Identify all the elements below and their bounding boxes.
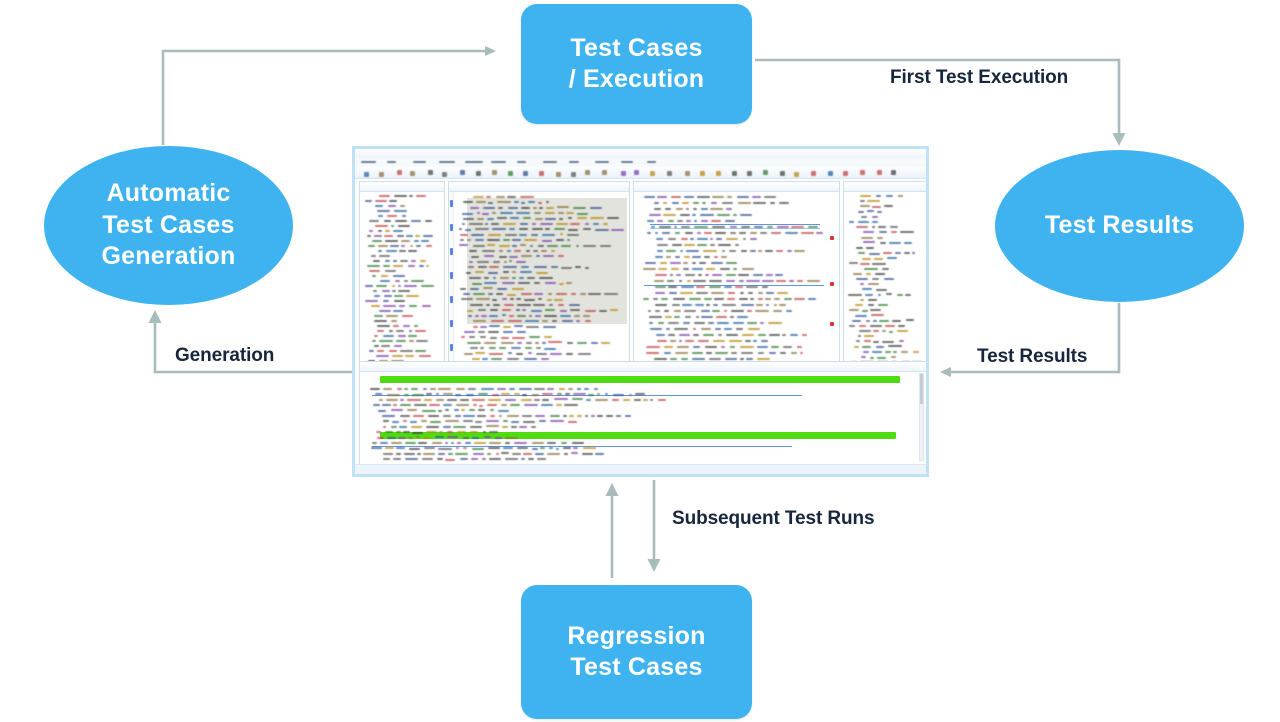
ide-text-run [648, 310, 651, 312]
ide-text-run [681, 358, 687, 360]
ide-text-run [670, 358, 677, 360]
ide-text-run [472, 399, 485, 401]
ide-text-run [684, 196, 694, 198]
ide-text-run [379, 340, 393, 342]
ide-toolbar-icon[interactable] [476, 171, 481, 176]
ide-text-run [490, 309, 499, 311]
ide-text-run [629, 394, 633, 396]
ide-toolbar-icon[interactable] [860, 170, 865, 175]
ide-text-run [422, 305, 431, 307]
ide-toolbar-icon[interactable] [410, 171, 415, 176]
ide-toolbar-icon[interactable] [556, 172, 561, 177]
ide-text-run [470, 426, 483, 428]
ide-text-run [378, 230, 382, 232]
ide-text-run [583, 315, 590, 317]
ide-text-run [782, 334, 786, 336]
ide-text-run [683, 262, 687, 264]
ide-text-run [383, 300, 389, 302]
ide-text-run [559, 218, 564, 220]
ide-text-run [773, 310, 782, 312]
ide-text-run [545, 218, 556, 220]
ide-text-run [664, 346, 673, 348]
ide-text-run [696, 292, 708, 294]
ide-toolbar-icon[interactable] [891, 170, 896, 175]
ide-toolbar-icon[interactable] [379, 172, 384, 177]
ide-text-run [391, 320, 396, 322]
ide-toolbar-icon[interactable] [811, 171, 816, 176]
ide-text-run [697, 238, 708, 240]
ide-text-run [378, 245, 388, 247]
ide-text-run [714, 256, 718, 258]
ide-text-run [554, 398, 567, 400]
ide-text-run [509, 388, 515, 390]
ide-text-run [694, 226, 708, 228]
ide-text-run [550, 353, 563, 355]
ide-text-run [668, 238, 677, 240]
ide-text-run [396, 431, 401, 433]
ide-text-run [365, 300, 378, 302]
ide-text-run [499, 245, 510, 247]
ide-text-run [876, 195, 881, 197]
ide-menu-item[interactable] [569, 161, 579, 163]
ide-toolbar-icon[interactable] [492, 170, 497, 175]
ide-toolbar-icon[interactable] [700, 171, 705, 176]
ide-text-run [577, 342, 587, 344]
ide-text-run [643, 268, 656, 270]
label-test-results: Test Results [977, 346, 1087, 368]
ide-text-run [668, 322, 679, 324]
ide-text-run [383, 388, 392, 390]
ide-text-run [849, 221, 854, 223]
ide-menu-item[interactable] [621, 161, 633, 163]
ide-text-run [496, 196, 505, 198]
ide-toolbar-icon[interactable] [523, 171, 528, 176]
ide-text-run [739, 298, 748, 300]
ide-toolbar-icon[interactable] [508, 171, 513, 176]
ide-toolbar-icon[interactable] [621, 171, 626, 176]
ide-text-run [777, 292, 788, 294]
ide-toolbar-icon[interactable] [364, 172, 369, 177]
ide-text-run [681, 286, 694, 288]
node-regression-test-cases[interactable]: Regression Test Cases [521, 585, 752, 719]
ide-text-run [457, 442, 462, 444]
ide-text-run [583, 245, 596, 247]
ide-text-run [394, 195, 407, 197]
ide-toolbar-icon[interactable] [602, 170, 607, 175]
ide-text-run [502, 426, 508, 428]
ide-text-run [736, 328, 742, 330]
ide-text-run [375, 393, 382, 395]
ide-text-run [693, 328, 696, 330]
ide-toolbar-icon[interactable] [539, 171, 544, 176]
ide-text-run [406, 235, 412, 237]
node-automatic-test-cases-generation[interactable]: Automatic Test Cases Generation [44, 146, 293, 305]
ide-menu-item[interactable] [439, 161, 455, 163]
ide-menu-item[interactable] [543, 161, 557, 163]
node-test-results[interactable]: Test Results [995, 150, 1244, 302]
ide-text-run [739, 232, 747, 234]
ide-text-run [655, 304, 667, 306]
ide-text-run [411, 280, 424, 282]
ide-text-run [514, 442, 528, 444]
ide-text-run [436, 399, 444, 401]
ide-text-run [379, 310, 391, 312]
ide-text-run [391, 442, 401, 444]
ide-toolbar-icon[interactable] [442, 172, 447, 177]
ide-text-run [715, 232, 726, 234]
ide-text-run [654, 208, 661, 210]
ide-menu-item[interactable] [387, 161, 396, 163]
ide-text-run [692, 262, 696, 264]
ide-text-run [866, 273, 872, 275]
ide-text-run [670, 262, 681, 264]
ide-text-run [897, 330, 908, 332]
ide-text-run [507, 358, 519, 360]
ide-text-run [647, 220, 654, 222]
ide-text-run [733, 214, 737, 216]
ide-text-run [532, 394, 539, 396]
ide-text-run [499, 250, 503, 252]
ide-text-run [519, 277, 524, 279]
ide-text-run [511, 426, 517, 428]
ide-text-run [904, 242, 912, 244]
ide-text-run [501, 342, 514, 344]
ide-text-run [568, 229, 578, 231]
ide-text-run [400, 404, 411, 406]
ide-toolbar-icon[interactable] [877, 170, 882, 175]
ide-text-run [496, 453, 499, 455]
ide-text-run [423, 453, 434, 455]
ide-text-run [386, 399, 398, 401]
ide-text-run [375, 200, 387, 202]
ide-text-run [715, 328, 721, 330]
ide-text-run [794, 250, 805, 252]
ide-text-run [508, 352, 512, 354]
ide-toolbar-icon[interactable] [794, 172, 799, 177]
ide-text-run [670, 274, 673, 276]
ide-text-run [853, 273, 862, 275]
ide-text-run [712, 310, 720, 312]
ide-pane-tab [449, 182, 629, 192]
node-regression-line1: Regression [567, 622, 705, 652]
ide-text-run [724, 328, 732, 330]
ide-text-run [807, 280, 821, 282]
ide-toolbar-icon[interactable] [780, 171, 785, 176]
ide-text-run [698, 340, 709, 342]
ide-text-run [374, 345, 378, 347]
ide-text-run [461, 336, 465, 338]
ide-text-run [905, 294, 911, 296]
ide-text-run [856, 340, 860, 342]
ide-text-run [862, 288, 872, 290]
ide-text-run [484, 277, 489, 279]
ide-text-run [475, 352, 485, 354]
ide-text-run [460, 458, 468, 460]
ide-text-run [684, 244, 695, 246]
ide-text-run [656, 238, 663, 240]
ide-text-run [571, 452, 579, 454]
ide-text-run [385, 230, 391, 232]
ide-text-run [585, 310, 597, 312]
diagram-canvas: Test Cases / Execution Automatic Test Ca… [0, 0, 1280, 722]
ide-text-run [564, 453, 568, 455]
ide-text-run [689, 298, 701, 300]
ide-text-run [467, 310, 474, 312]
ide-text-run [658, 399, 666, 401]
ide-menu-item[interactable] [517, 161, 526, 163]
ide-text-run [808, 226, 818, 228]
ide-text-run [532, 223, 537, 225]
ide-text-run [372, 340, 377, 342]
ide-text-run [499, 415, 502, 417]
ide-text-run [482, 458, 486, 460]
ide-text-run [591, 415, 595, 417]
ide-text-run [597, 415, 603, 417]
ide-text-run [379, 255, 390, 257]
ide-text-run [524, 299, 535, 301]
ide-text-run [379, 195, 390, 197]
ide-text-run [473, 404, 476, 406]
ide-text-run [548, 341, 562, 343]
ide-text-run [377, 325, 390, 327]
ide-text-run [475, 421, 482, 423]
ide-text-run [547, 442, 556, 444]
ide-text-run [726, 280, 735, 282]
ide-toolbar-icon[interactable] [585, 170, 590, 175]
ide-text-run [511, 421, 519, 423]
ide-text-run [393, 325, 399, 327]
ide-text-run [718, 334, 722, 336]
ide-text-run [585, 223, 589, 225]
ide-menu-item[interactable] [465, 161, 483, 163]
ide-text-run [692, 358, 706, 360]
ide-text-run [655, 310, 660, 312]
ide-text-run [873, 320, 876, 322]
ide-text-run [488, 293, 493, 295]
ide-text-run [535, 315, 541, 317]
ide-scrollbar[interactable] [919, 373, 924, 461]
ide-text-run [422, 458, 433, 460]
ide-text-run [438, 388, 451, 390]
ide-text-run [394, 295, 403, 297]
ide-text-run [697, 232, 700, 234]
ide-toolbar-icon[interactable] [650, 171, 655, 176]
ide-text-run [445, 459, 455, 461]
ide-text-run [437, 458, 442, 460]
ide-menu-item[interactable] [647, 161, 656, 163]
ide-text-run [726, 334, 737, 336]
ide-text-run [388, 205, 396, 207]
ide-text-run [694, 220, 697, 222]
ide-text-run [543, 255, 553, 257]
ide-text-run [522, 415, 531, 417]
ide-text-run [574, 315, 581, 317]
ide-text-run [720, 268, 730, 270]
ide-text-run [501, 393, 510, 395]
node-test-cases-execution-line1: Test Cases [569, 34, 705, 64]
ide-text-run [395, 220, 407, 222]
ide-text-run [674, 316, 680, 318]
ide-text-run [660, 262, 666, 264]
ide-text-run [453, 426, 466, 428]
ide-text-run [445, 409, 449, 411]
ide-toolbar-icon[interactable] [732, 171, 737, 176]
ide-text-run [561, 267, 571, 269]
ide-text-run [501, 404, 507, 406]
ide-text-run [387, 394, 400, 396]
ide-text-run [878, 304, 888, 306]
ide-text-run [402, 315, 414, 317]
ide-text-run [535, 218, 543, 220]
ide-text-run [758, 298, 763, 300]
ide-text-run [673, 298, 685, 300]
ide-toolbar-icon[interactable] [763, 170, 768, 175]
ide-text-run [425, 220, 432, 222]
ide-text-run [542, 342, 546, 344]
ide-text-run [738, 274, 749, 276]
ide-text-run [656, 334, 665, 336]
ide-toolbar-icon[interactable] [716, 171, 721, 176]
ide-text-run [560, 315, 571, 317]
ide-text-run [590, 217, 604, 219]
ide-text-run [485, 223, 488, 225]
ide-text-run [456, 447, 459, 449]
ide-toolbar-icon[interactable] [685, 171, 690, 176]
ide-text-run [424, 399, 432, 401]
ide-text-run [481, 388, 494, 390]
ide-text-run [740, 358, 743, 360]
ide-text-run [517, 331, 527, 333]
ide-test-table [633, 181, 840, 377]
ide-menu-item[interactable] [413, 161, 426, 163]
ide-text-run [502, 309, 512, 311]
ide-toolbar-icon[interactable] [843, 171, 848, 176]
ide-text-run [455, 453, 468, 455]
ide-text-run [512, 453, 521, 455]
ide-text-run [646, 346, 660, 348]
ide-text-run [886, 293, 892, 295]
ide-text-run [698, 274, 703, 276]
ide-text-run [400, 205, 405, 207]
ide-text-run [726, 208, 732, 210]
ide-text-run [697, 244, 706, 246]
ide-change-marker [450, 320, 453, 327]
ide-text-run [463, 201, 473, 203]
ide-text-run [745, 340, 751, 342]
ide-text-run [384, 295, 392, 297]
ide-text-run [583, 228, 591, 230]
ide-text-run [725, 358, 737, 360]
ide-text-run [877, 357, 886, 359]
ide-text-run [668, 286, 677, 288]
ide-toolbar-icon[interactable] [397, 170, 402, 175]
ide-text-run [380, 280, 390, 282]
ide-text-run [594, 388, 597, 390]
ide-text-run [503, 447, 514, 449]
ide-text-run [858, 221, 869, 223]
ide-text-run [509, 256, 518, 258]
ide-text-run [381, 275, 388, 277]
ide-text-run [376, 355, 389, 357]
ide-text-run [724, 310, 727, 312]
ide-text-run [417, 453, 420, 455]
ide-text-run [426, 245, 432, 247]
ide-text-run [409, 448, 420, 450]
ide-text-run [550, 415, 561, 417]
ide-text-run [367, 235, 371, 237]
ide-text-run [860, 205, 870, 207]
ide-text-run [865, 294, 873, 296]
ide-text-run [523, 453, 532, 455]
ide-text-run [559, 388, 566, 390]
ide-text-run [426, 426, 439, 428]
ide-text-run [401, 245, 406, 247]
ide-text-run [726, 238, 738, 240]
node-test-cases-execution[interactable]: Test Cases / Execution [521, 4, 752, 124]
ide-toolbar-icon[interactable] [634, 170, 639, 175]
ide-text-run [870, 325, 882, 327]
ide-text-run [521, 293, 532, 295]
ide-text-run [742, 268, 754, 270]
ide-text-run [849, 309, 858, 311]
ide-text-run [391, 225, 395, 227]
ide-text-run [535, 453, 545, 455]
ide-text-run [679, 340, 682, 342]
ide-text-run [537, 458, 546, 460]
ide-toolbar-icon[interactable] [460, 170, 465, 175]
ide-toolbar-icon[interactable] [747, 171, 752, 176]
ide-text-run [403, 325, 410, 327]
ide-text-run [404, 394, 409, 396]
ide-text-run [752, 196, 761, 198]
ide-text-run [561, 442, 567, 444]
ide-text-run [563, 447, 571, 449]
ide-toolbar-icon[interactable] [667, 171, 672, 176]
ide-text-run [374, 235, 382, 237]
ide-text-run [747, 322, 757, 324]
ide-text-run [463, 218, 474, 220]
ide-text-run [675, 256, 681, 258]
ide-text-run [516, 261, 525, 263]
ide-menu-item[interactable] [491, 161, 506, 163]
ide-text-run [549, 447, 553, 449]
ide-menu-item[interactable] [595, 161, 609, 163]
ide-text-run [533, 304, 545, 306]
ide-text-run [415, 350, 425, 352]
ide-text-run [863, 351, 869, 353]
ide-text-run [405, 442, 416, 444]
ide-text-run [765, 250, 773, 252]
ide-text-run [685, 316, 691, 318]
ide-text-run [526, 250, 530, 252]
ide-menu-item[interactable] [361, 161, 376, 163]
ide-text-run [657, 250, 663, 252]
ide-toolbar-icon[interactable] [428, 170, 433, 175]
ide-text-run [385, 447, 393, 449]
label-first-test-execution: First Test Execution [890, 67, 1068, 89]
ide-text-run [869, 253, 880, 255]
ide-text-run [873, 341, 879, 343]
ide-text-run [868, 283, 879, 285]
ide-text-run [577, 415, 582, 417]
ide-text-run [374, 335, 379, 337]
ide-toolbar-icon[interactable] [828, 171, 833, 176]
ide-text-run [493, 304, 499, 306]
ide-text-run [399, 250, 406, 252]
ide-toolbar-icon[interactable] [571, 172, 576, 177]
ide-text-run [855, 315, 867, 317]
ide-text-run [885, 351, 891, 353]
